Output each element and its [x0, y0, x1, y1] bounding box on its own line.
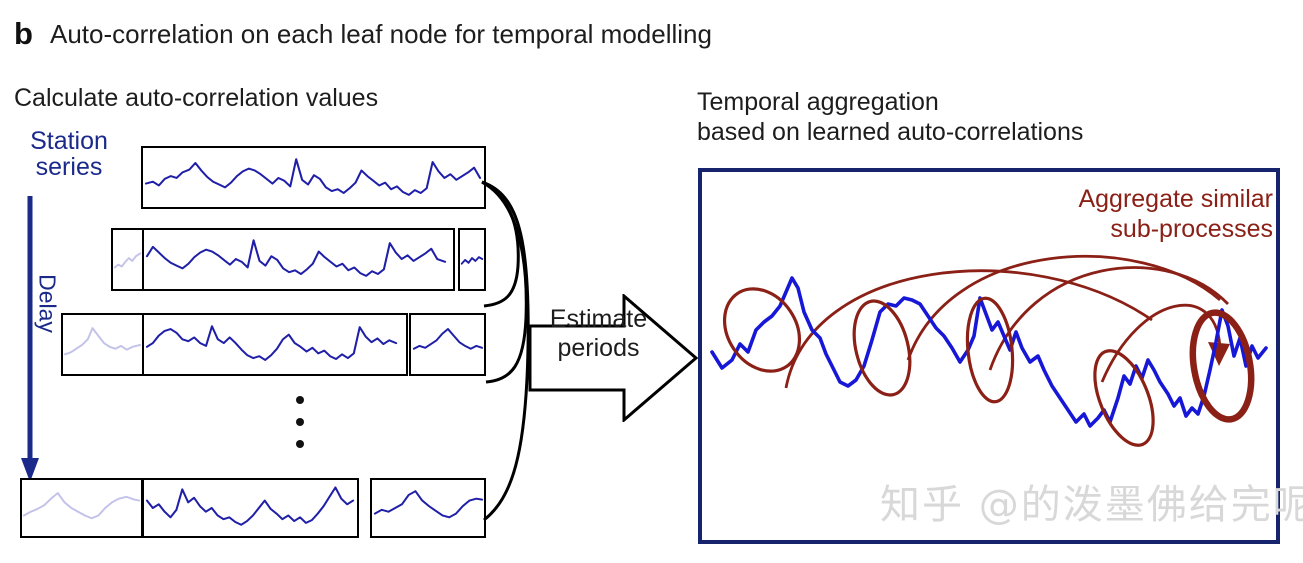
station-series-label: Station series	[14, 128, 124, 181]
station-series-line1: Station	[14, 128, 124, 154]
ellipsis-dot-2	[296, 418, 304, 426]
delay-label: Delay	[34, 254, 61, 354]
right-heading-line1: Temporal aggregation	[697, 88, 1083, 118]
estimate-periods-line2: periods	[536, 334, 661, 363]
series-row-2-wrap-tail	[409, 313, 486, 376]
estimate-periods-line1: Estimate	[536, 305, 661, 334]
panel-letter-label: b	[14, 18, 32, 49]
aggregate-annotation: Aggregate similar sub-processes	[1078, 184, 1273, 244]
page-title: Auto-correlation on each leaf node for t…	[50, 20, 712, 49]
series-row-2-main	[142, 313, 408, 376]
sub-process-ellipse-4	[1083, 343, 1165, 454]
aggregate-annotation-line2: sub-processes	[1078, 214, 1273, 244]
rows-ellipsis	[296, 396, 304, 462]
series-row-3-main	[142, 478, 359, 538]
series-row-3-wrap-tail	[370, 478, 486, 538]
series-row-3-faded-head	[20, 478, 143, 538]
watermark-text: 知乎 @的泼墨佛给完呢	[880, 472, 1303, 530]
ellipsis-dot-1	[296, 396, 304, 404]
ellipsis-dot-3	[296, 440, 304, 448]
series-row-0-main	[141, 146, 486, 209]
station-series-line2: series	[14, 154, 124, 180]
estimate-periods-label: Estimate periods	[536, 305, 661, 363]
right-section-heading: Temporal aggregation based on learned au…	[697, 88, 1083, 147]
series-row-1-main	[142, 228, 455, 291]
aggregate-annotation-line1: Aggregate similar	[1078, 184, 1273, 214]
series-row-1-faded-head	[111, 228, 144, 291]
sub-process-ellipse-5	[1185, 308, 1259, 424]
right-heading-line2: based on learned auto-correlations	[697, 118, 1083, 148]
series-row-2-faded-head	[61, 313, 144, 376]
left-section-heading: Calculate auto-correlation values	[14, 84, 378, 113]
